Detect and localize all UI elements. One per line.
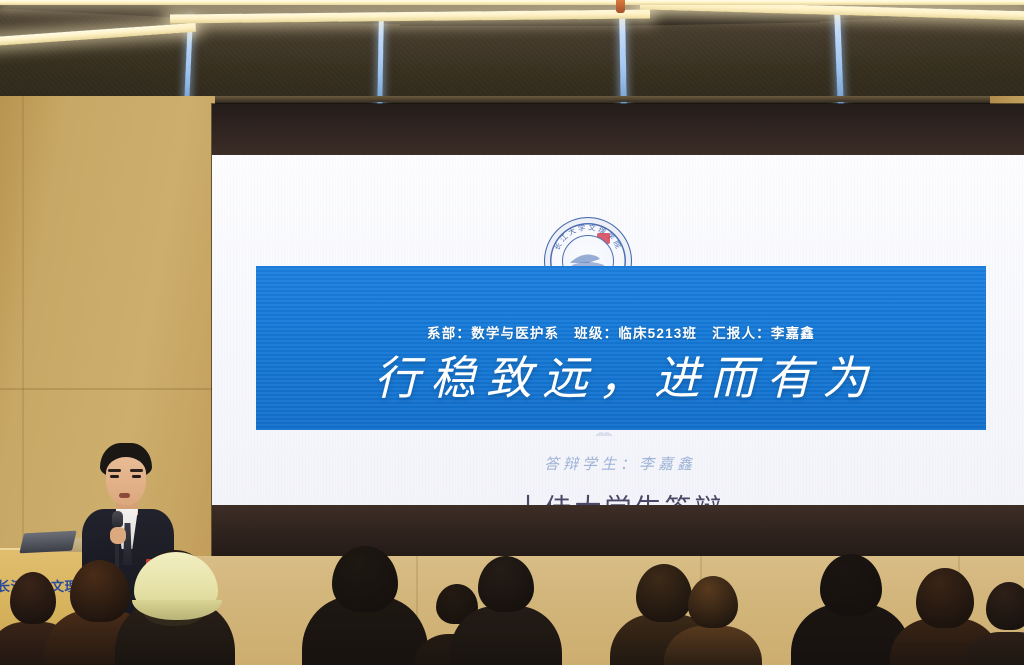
audience-member-2 <box>70 560 130 622</box>
presenter-eye-right <box>132 475 141 478</box>
audience-row <box>0 560 1024 665</box>
slide-meta-line: 系部：数学与医护系 班级：临床5213班 汇报人：李嘉鑫 <box>256 322 986 342</box>
ceiling-light-strip-center <box>170 9 650 23</box>
audience-member-10 <box>916 568 974 628</box>
presentation-slide: 长江大学文理学院 2004 系部：数学与医护系 班级：临床5213班 汇报人：李… <box>212 155 1024 505</box>
audience-member-11 <box>986 582 1024 630</box>
screen-bezel-top <box>212 104 1024 155</box>
audience-member-8 <box>688 576 738 628</box>
small-flourish-icon <box>594 430 614 439</box>
audience-member-7 <box>636 564 692 622</box>
slide-main-title: 行稳致远，进而有为 <box>256 342 986 408</box>
presenter-hand <box>110 527 126 544</box>
projection-screen: 长江大学文理学院 2004 系部：数学与医护系 班级：临床5213班 汇报人：李… <box>212 104 1024 560</box>
slide-subtitle: 答辩学生：李嘉鑫 <box>212 453 1024 474</box>
presenter-brow-left <box>108 469 121 472</box>
sprinkler-head-icon <box>616 0 625 13</box>
audience-member-6 <box>478 556 534 612</box>
podium-laptop-icon <box>19 531 76 554</box>
slide-footer-title: 十佳大学生答辩 <box>212 487 1024 505</box>
audience-member-6-shoulders <box>450 606 562 665</box>
slide-blue-band: 系部：数学与医护系 班级：临床5213班 汇报人：李嘉鑫 行稳致远，进而有为 <box>256 266 986 430</box>
auditorium-photo: 长江大学文理学院 2004 系部：数学与医护系 班级：临床5213班 汇报人：李… <box>0 0 1024 665</box>
presenter-brow-right <box>130 469 143 472</box>
ceiling-light-strip-far <box>0 0 1024 5</box>
audience-member-9 <box>820 554 882 616</box>
audience-member-1 <box>10 572 56 624</box>
presenter-eye-left <box>110 475 119 478</box>
wall-seam-horizontal <box>0 388 215 390</box>
presenter-mouth <box>119 493 130 498</box>
screen-bezel-bottom <box>212 505 1024 560</box>
handheld-microphone-icon <box>112 511 123 527</box>
